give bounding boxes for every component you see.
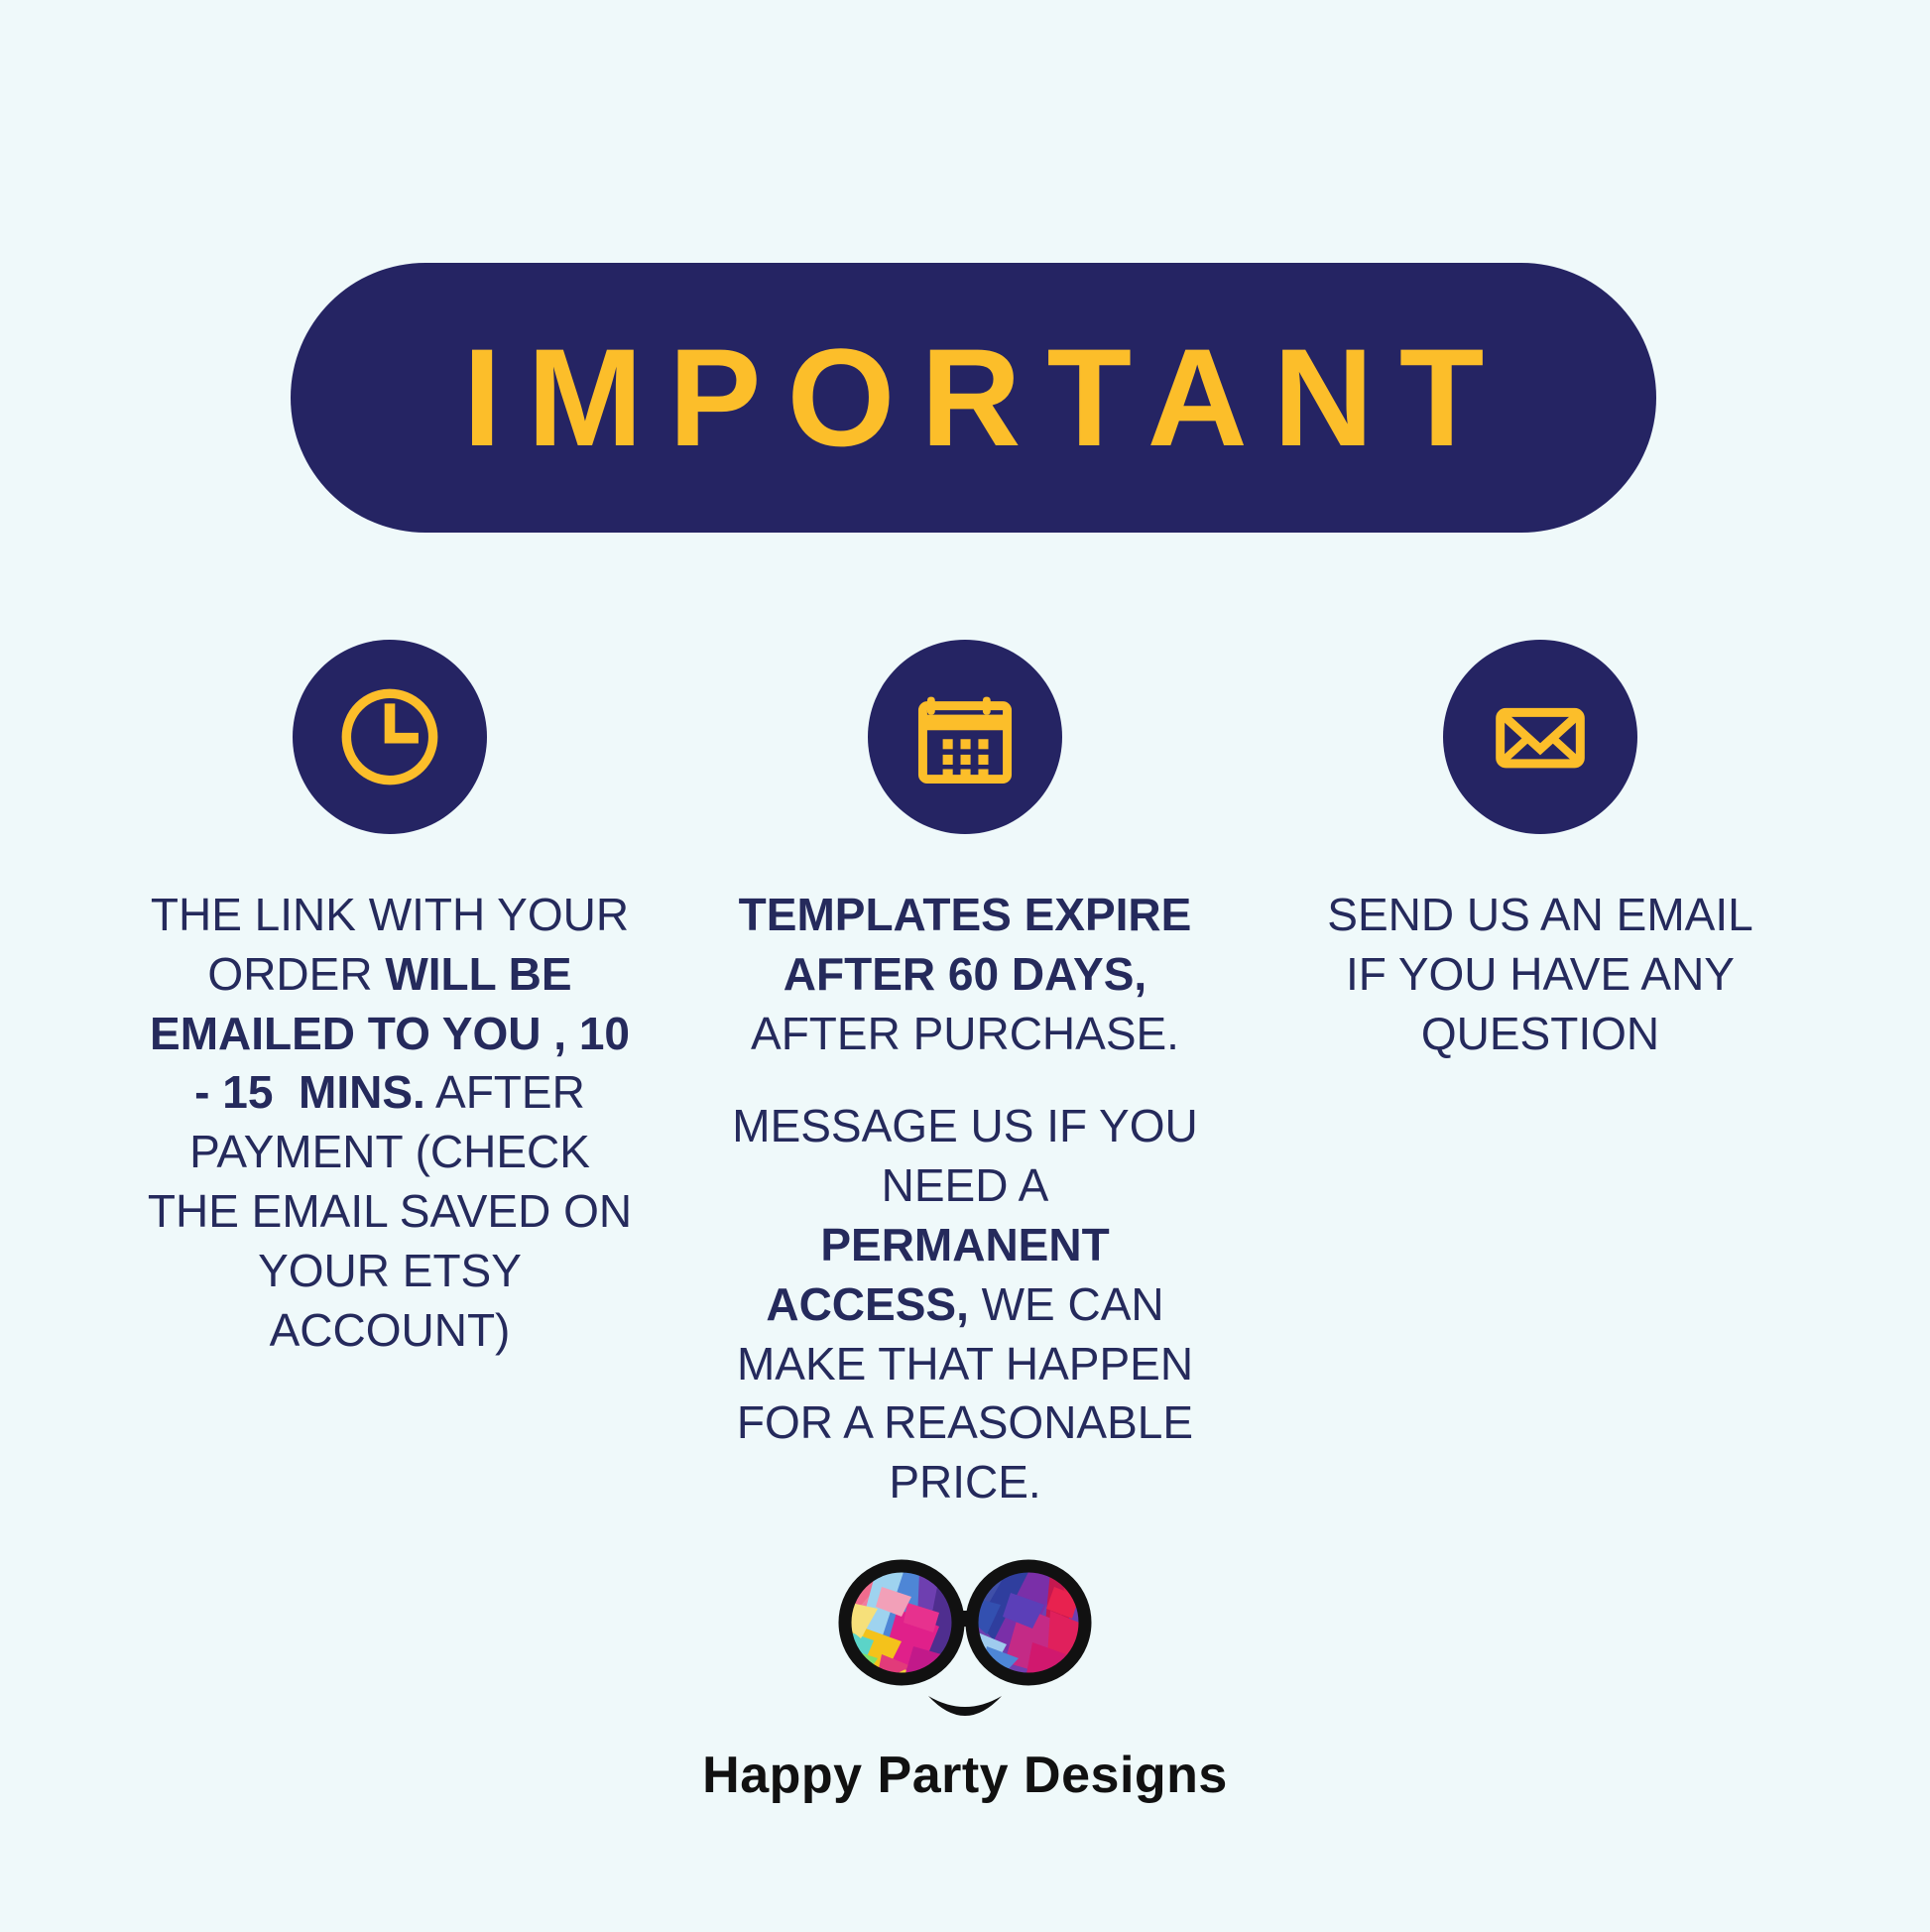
info-column-expiry: TEMPLATES EXPIRE AFTER 60 DAYS, AFTER PU…: [687, 640, 1243, 1512]
paragraph: SEND US AN EMAIL IF YOU HAVE ANY QUESTIO…: [1302, 886, 1778, 1063]
envelope-icon-badge: [1443, 640, 1637, 834]
info-column-contact: SEND US AN EMAIL IF YOU HAVE ANY QUESTIO…: [1243, 640, 1838, 1063]
text-run-bold: TEMPLATES EXPIRE AFTER 60 DAYS,: [739, 889, 1192, 1000]
text-run: MESSAGE US IF YOU NEED A: [732, 1100, 1197, 1211]
calendar-icon: [909, 681, 1021, 792]
paragraph: TEMPLATES EXPIRE AFTER 60 DAYS, AFTER PU…: [732, 886, 1198, 1063]
info-text-expiry: TEMPLATES EXPIRE AFTER 60 DAYS, AFTER PU…: [732, 886, 1198, 1512]
text-run: SEND US AN EMAIL IF YOU HAVE ANY QUESTIO…: [1327, 889, 1752, 1059]
banner-title: IMPORTANT: [437, 328, 1510, 467]
info-column-delivery: THE LINK WITH YOUR ORDER WILL BE EMAILED…: [92, 640, 687, 1360]
brand-name: Happy Party Designs: [702, 1746, 1228, 1805]
brand-logo: Happy Party Designs: [0, 1547, 1930, 1805]
paragraph: MESSAGE US IF YOU NEED A PERMANENT ACCES…: [732, 1097, 1198, 1512]
info-columns: THE LINK WITH YOUR ORDER WILL BE EMAILED…: [0, 640, 1930, 1512]
clock-icon-badge: [293, 640, 487, 834]
sunglasses-smile-logo-icon: [816, 1547, 1114, 1736]
clock-icon: [331, 678, 448, 795]
envelope-icon: [1485, 681, 1596, 792]
poster-canvas: IMPORTANT THE LINK WITH YOUR ORDER WILL …: [0, 0, 1930, 1932]
info-text-delivery: THE LINK WITH YOUR ORDER WILL BE EMAILED…: [142, 886, 638, 1360]
calendar-icon-badge: [868, 640, 1062, 834]
text-run: AFTER PURCHASE.: [751, 1008, 1179, 1059]
paragraph: THE LINK WITH YOUR ORDER WILL BE EMAILED…: [142, 886, 638, 1360]
important-banner: IMPORTANT: [291, 263, 1656, 533]
info-text-contact: SEND US AN EMAIL IF YOU HAVE ANY QUESTIO…: [1302, 886, 1778, 1063]
